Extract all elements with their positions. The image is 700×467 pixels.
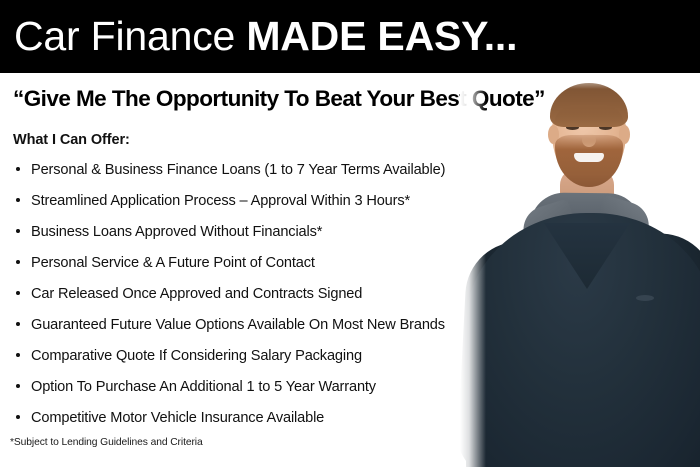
portrait-collar-right xyxy=(590,195,655,261)
page-title: Car Finance MADE EASY... xyxy=(14,10,517,62)
portrait-ear-right xyxy=(619,125,630,144)
header-band: Car Finance MADE EASY... xyxy=(0,0,700,73)
list-item: Personal Service & A Future Point of Con… xyxy=(13,251,513,282)
list-item-label: Personal & Business Finance Loans (1 to … xyxy=(31,162,445,178)
list-item-label: Comparative Quote If Considering Salary … xyxy=(31,348,362,364)
portrait-shirt-collar xyxy=(530,193,643,254)
portrait-eye-left xyxy=(566,125,579,130)
list-item: Guaranteed Future Value Options Availabl… xyxy=(13,313,513,344)
list-item: Competitive Motor Vehicle Insurance Avai… xyxy=(13,406,513,437)
list-item-label: Competitive Motor Vehicle Insurance Avai… xyxy=(31,410,324,426)
list-item-label: Business Loans Approved Without Financia… xyxy=(31,224,322,240)
portrait-neck xyxy=(560,169,614,221)
portrait-beard xyxy=(555,135,623,187)
bullet-dot-icon xyxy=(16,260,20,264)
list-item-label: Guaranteed Future Value Options Availabl… xyxy=(31,317,445,333)
car-finance-poster: Car Finance MADE EASY... “Give Me The Op… xyxy=(0,0,700,467)
portrait-collar-left xyxy=(518,199,583,264)
offer-bullet-list: Personal & Business Finance Loans (1 to … xyxy=(13,158,513,437)
offer-heading: What I Can Offer: xyxy=(13,131,130,149)
list-item-label: Personal Service & A Future Point of Con… xyxy=(31,255,315,271)
portrait-sweater-logo xyxy=(636,295,654,301)
tagline-quote: “Give Me The Opportunity To Beat Your Be… xyxy=(13,85,689,113)
bullet-dot-icon xyxy=(16,322,20,326)
portrait-eyebrow-left xyxy=(564,117,580,122)
list-item: Car Released Once Approved and Contracts… xyxy=(13,282,513,313)
list-item: Business Loans Approved Without Financia… xyxy=(13,220,513,251)
list-item: Option To Purchase An Additional 1 to 5 … xyxy=(13,375,513,406)
list-item: Comparative Quote If Considering Salary … xyxy=(13,344,513,375)
bullet-dot-icon xyxy=(16,415,20,419)
list-item: Streamlined Application Process – Approv… xyxy=(13,189,513,220)
page-title-regular: Car Finance xyxy=(14,13,246,59)
bullet-dot-icon xyxy=(16,353,20,357)
page-title-bold: MADE EASY... xyxy=(246,13,517,59)
portrait-ear-left xyxy=(548,125,559,144)
bullet-dot-icon xyxy=(16,167,20,171)
list-item: Personal & Business Finance Loans (1 to … xyxy=(13,158,513,189)
portrait-smile xyxy=(574,153,604,162)
portrait-eye-right xyxy=(599,125,612,130)
list-item-label: Car Released Once Approved and Contracts… xyxy=(31,286,362,302)
portrait-vneck xyxy=(544,223,630,289)
portrait-right-arm xyxy=(622,231,700,467)
bullet-dot-icon xyxy=(16,229,20,233)
portrait-nose xyxy=(582,133,596,147)
bullet-dot-icon xyxy=(16,291,20,295)
portrait-eyebrow-right xyxy=(598,117,614,122)
list-item-label: Streamlined Application Process – Approv… xyxy=(31,193,410,209)
bullet-dot-icon xyxy=(16,198,20,202)
footnote-disclaimer: *Subject to Lending Guidelines and Crite… xyxy=(10,436,203,450)
list-item-label: Option To Purchase An Additional 1 to 5 … xyxy=(31,379,376,395)
bullet-dot-icon xyxy=(16,384,20,388)
